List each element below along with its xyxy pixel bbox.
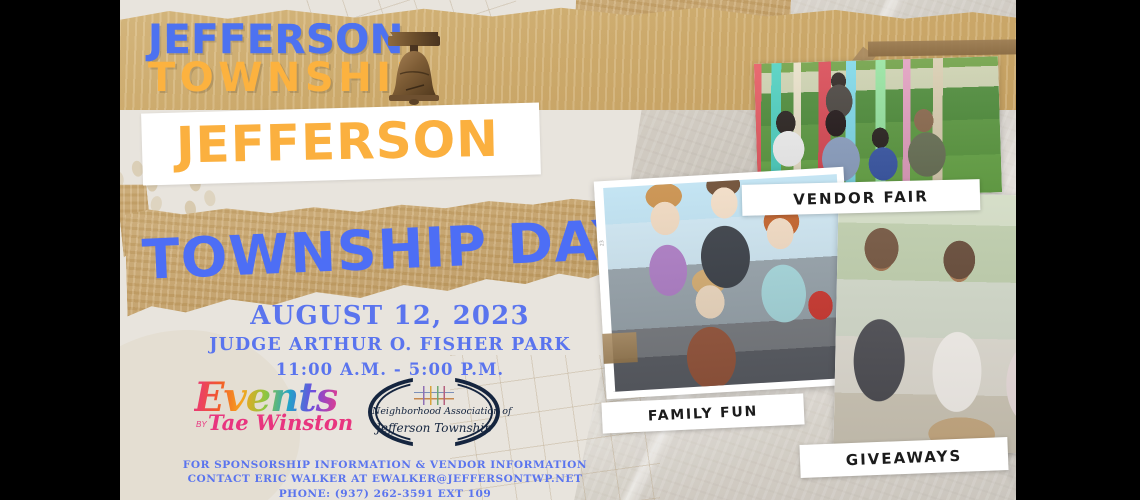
- photo-giveaways: [833, 191, 1016, 454]
- association-crest-icon: [414, 386, 454, 405]
- neighborhood-association-logo: Neighborhood Association of Jefferson To…: [368, 376, 500, 448]
- screenshot-stage: JEFFERSON TOWNSHIP: [0, 0, 1140, 500]
- event-details: AUGUST 12, 2023 JUDGE ARTHUR O. FISHER P…: [120, 300, 660, 382]
- headline-jefferson: JEFFERSON: [175, 110, 499, 175]
- kraft-tape-family: [602, 332, 638, 364]
- event-venue: JUDGE ARTHUR O. FISHER PARK: [120, 333, 660, 358]
- footer-line-1: FOR SPONSORSHIP INFORMATION & VENDOR INF…: [120, 458, 650, 472]
- headline-banner: JEFFERSON: [141, 102, 541, 185]
- events-logo-script: Tae Winston: [208, 410, 353, 435]
- events-logo-by: BY: [196, 420, 207, 429]
- events-by-tae-winston-logo: Events BY Tae Winston: [194, 374, 354, 450]
- filmstrip-number: 23: [599, 240, 605, 246]
- label-vendor-fair: VENDOR FAIR: [742, 179, 981, 216]
- liberty-bell-icon: [386, 28, 442, 106]
- contact-footer: FOR SPONSORSHIP INFORMATION & VENDOR INF…: [120, 458, 650, 500]
- footer-line-2: CONTACT ERIC WALKER AT EWALKER@JEFFERSON…: [120, 472, 650, 486]
- footer-line-3: PHONE: (937) 262-3591 EXT 109: [120, 487, 650, 500]
- association-line-1: Neighborhood Association of: [372, 406, 496, 417]
- sponsor-logos: Events BY Tae Winston Neighborhood Assoc…: [172, 378, 592, 450]
- photo-giveaways-image: [833, 191, 1016, 454]
- event-flyer: JEFFERSON TOWNSHIP: [120, 0, 1016, 500]
- brown-tape-strip: [868, 38, 1016, 56]
- event-date: AUGUST 12, 2023: [120, 300, 660, 333]
- decorative-dot: [203, 189, 217, 207]
- township-logo: JEFFERSON TOWNSHIP: [148, 22, 458, 97]
- association-line-2: Jefferson Township: [372, 421, 496, 435]
